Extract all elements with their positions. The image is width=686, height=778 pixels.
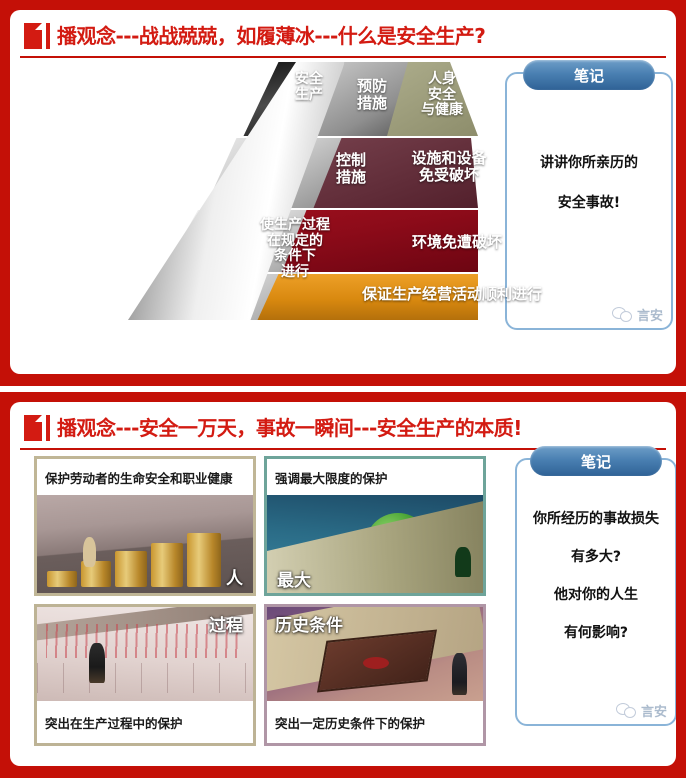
note-line: 有何影响? bbox=[525, 622, 667, 642]
page-icon bbox=[24, 23, 42, 49]
slide-two: 播观念---安全一万天，事故一瞬间---安全生产的本质! 保护劳动者的生命安全和… bbox=[0, 392, 686, 778]
image-card-person[interactable]: 保护劳动者的生命安全和职业健康 人 bbox=[34, 456, 256, 596]
accent-bar-icon bbox=[46, 415, 50, 441]
note-line: 安全事故! bbox=[515, 192, 663, 212]
card-photo-chart: 过程 bbox=[37, 607, 253, 701]
card-tag: 最大 bbox=[277, 566, 311, 591]
card-photo-coins: 人 bbox=[37, 495, 253, 593]
watermark-label: 言安 bbox=[641, 701, 667, 720]
pyramid-ps-line-1: 人身 bbox=[412, 72, 472, 88]
pyramid-equip-line-1: 设施和设备 bbox=[384, 150, 514, 167]
safety-pyramid-diagram: 安全 生产 预防 措施 人身 安全 与健康 控制 措施 bbox=[128, 62, 478, 320]
slide-one-panel: 播观念---战战兢兢，如履薄冰---什么是安全生产? bbox=[10, 10, 676, 374]
pyramid-left-line-3: 条件下 bbox=[248, 249, 342, 265]
image-card-history[interactable]: 历史条件 突出一定历史条件下的保护 bbox=[264, 604, 486, 746]
card-caption: 强调最大限度的保护 bbox=[267, 459, 483, 495]
pyramid-ps-line-2: 安全 bbox=[412, 88, 472, 104]
pyramid-prevention-line-2: 措施 bbox=[344, 95, 400, 112]
card-photo-trap: 历史条件 bbox=[267, 607, 483, 701]
pyramid-apex-line-2: 生产 bbox=[278, 88, 340, 104]
note-line: 他对你的人生 bbox=[525, 584, 667, 604]
image-card-process[interactable]: 过程 突出在生产过程中的保护 bbox=[34, 604, 256, 746]
pyramid-label-personal-safety: 人身 安全 与健康 bbox=[412, 72, 472, 119]
page-icon bbox=[24, 415, 42, 441]
accent-bar-icon bbox=[46, 23, 50, 49]
pyramid-label-environment: 环境免遭破坏 bbox=[382, 234, 532, 251]
page-title: 播观念---安全一万天，事故一瞬间---安全生产的本质! bbox=[57, 418, 522, 438]
note-body-two: 你所经历的事故损失 有多大? 他对你的人生 有何影响? bbox=[525, 508, 667, 660]
pyramid-apex-line-1: 安全 bbox=[278, 72, 340, 88]
page-title: 播观念---战战兢兢，如履薄冰---什么是安全生产? bbox=[57, 26, 485, 46]
card-tag: 人 bbox=[226, 564, 243, 589]
image-card-maximum[interactable]: 强调最大限度的保护 最大 bbox=[264, 456, 486, 596]
watermark-label: 言安 bbox=[637, 305, 663, 324]
slide-one: 播观念---战战兢兢，如履薄冰---什么是安全生产? bbox=[0, 0, 686, 386]
card-tag: 过程 bbox=[209, 611, 243, 636]
coins-stairs-image bbox=[37, 495, 253, 593]
slide-two-panel: 播观念---安全一万天，事故一瞬间---安全生产的本质! 保护劳动者的生命安全和… bbox=[10, 402, 676, 766]
card-caption: 突出一定历史条件下的保护 bbox=[267, 701, 483, 743]
wechat-icon bbox=[612, 307, 634, 322]
note-title-pill: 笔记 bbox=[530, 446, 662, 476]
note-body-one: 讲讲你所亲历的 安全事故! bbox=[515, 152, 663, 232]
pyramid-equip-line-2: 免受破坏 bbox=[384, 167, 514, 184]
pyramid-left-line-2: 在规定的 bbox=[248, 234, 342, 250]
pyramid-left-line-4: 进行 bbox=[248, 265, 342, 281]
pyramid-label-left-band: 使生产过程 在规定的 条件下 进行 bbox=[248, 218, 342, 281]
card-caption: 保护劳动者的生命安全和职业健康 bbox=[37, 459, 253, 495]
slide-two-body: 保护劳动者的生命安全和职业健康 人 bbox=[20, 450, 666, 752]
image-card-grid: 保护劳动者的生命安全和职业健康 人 bbox=[34, 456, 486, 746]
note-line: 有多大? bbox=[525, 546, 667, 566]
slide-deck: 播观念---战战兢兢，如履薄冰---什么是安全生产? bbox=[0, 0, 686, 778]
watermark-one: 言安 bbox=[612, 305, 663, 324]
watermark-two: 言安 bbox=[616, 701, 667, 720]
pyramid-control-line-1: 控制 bbox=[324, 152, 378, 169]
pyramid-left-line-1: 使生产过程 bbox=[248, 218, 342, 234]
pyramid-label-apex: 安全 生产 bbox=[278, 72, 340, 103]
pyramid-label-control: 控制 措施 bbox=[324, 152, 378, 186]
pyramid-ps-line-3: 与健康 bbox=[412, 103, 472, 119]
pyramid-label-base: 保证生产经营活动顺利进行 bbox=[336, 286, 568, 303]
card-caption: 突出在生产过程中的保护 bbox=[37, 701, 253, 743]
note-title-pill: 笔记 bbox=[523, 60, 655, 90]
pyramid-prevention-line-1: 预防 bbox=[344, 78, 400, 95]
card-photo-globe: 最大 bbox=[267, 495, 483, 593]
wechat-icon bbox=[616, 703, 638, 718]
card-tag: 历史条件 bbox=[275, 611, 343, 636]
slide-two-header: 播观念---安全一万天，事故一瞬间---安全生产的本质! bbox=[20, 410, 666, 450]
note-line: 你所经历的事故损失 bbox=[525, 508, 667, 528]
note-card-two: 笔记 你所经历的事故损失 有多大? 他对你的人生 有何影响? 言安 bbox=[515, 458, 676, 726]
pyramid-label-equipment: 设施和设备 免受破坏 bbox=[384, 150, 514, 184]
slide-one-header: 播观念---战战兢兢，如履薄冰---什么是安全生产? bbox=[20, 18, 666, 58]
pyramid-control-line-2: 措施 bbox=[324, 169, 378, 186]
slide-one-body: 安全 生产 预防 措施 人身 安全 与健康 控制 措施 bbox=[20, 58, 666, 358]
pyramid-label-prevention: 预防 措施 bbox=[344, 78, 400, 112]
note-line: 讲讲你所亲历的 bbox=[515, 152, 663, 172]
